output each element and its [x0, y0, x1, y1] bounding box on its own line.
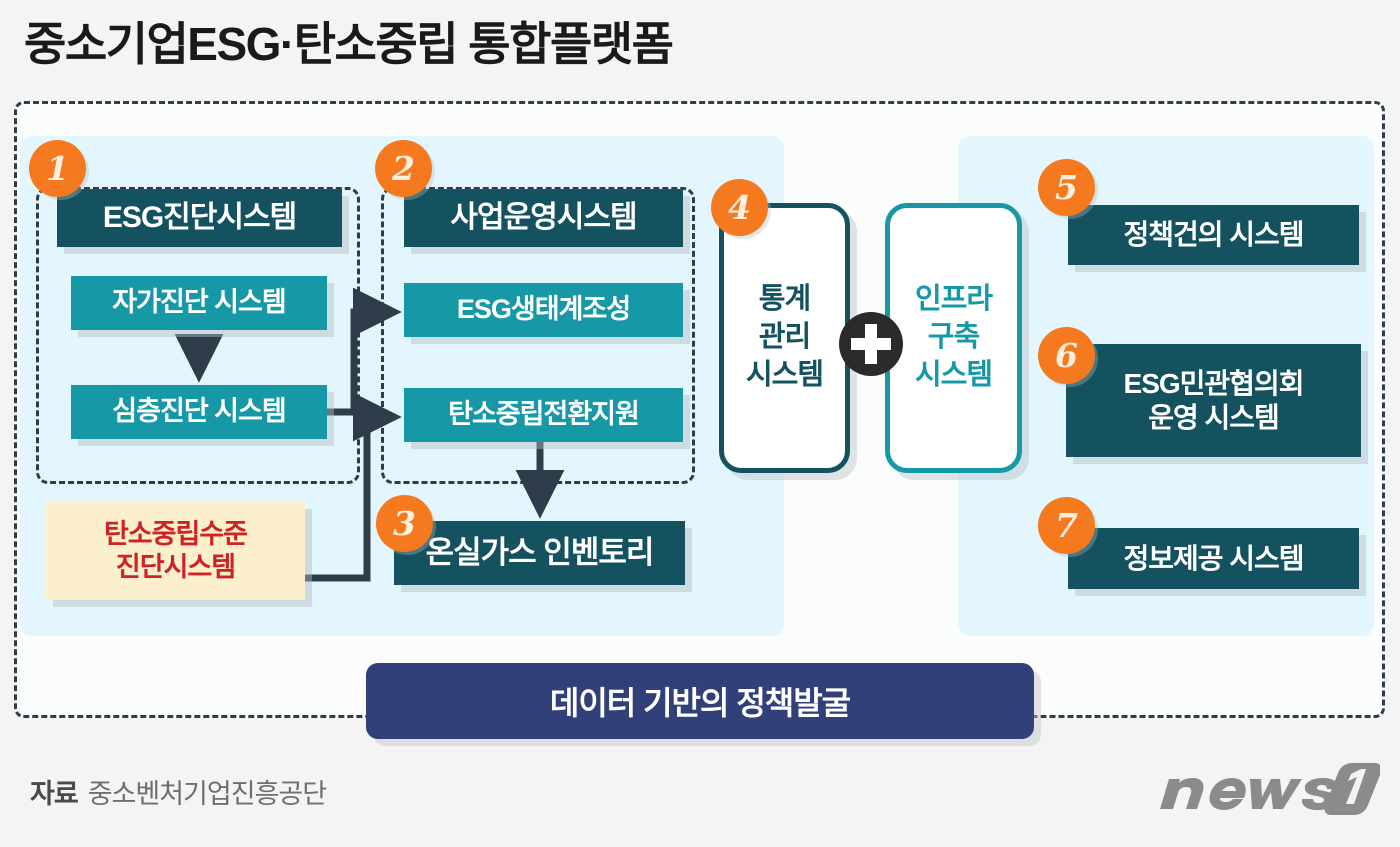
step-number-6: 6	[1038, 327, 1095, 384]
source-label: 자료	[30, 779, 78, 809]
source-credit: 자료중소벤처기업진흥공단	[30, 772, 326, 811]
step-number-4: 4	[711, 179, 768, 236]
source-value: 중소벤처기업진흥공단	[88, 779, 326, 809]
self-diagnosis-system-box[interactable]: 자가진단 시스템	[71, 276, 327, 330]
policy-proposal-system-box[interactable]: 정책건의 시스템	[1068, 205, 1359, 265]
infra-card-line3: 시스템	[915, 357, 992, 395]
esg-ecosystem-box[interactable]: ESG생태계조성	[404, 283, 683, 337]
business-operation-system-header[interactable]: 사업운영시스템	[404, 189, 683, 247]
carbon-neutral-transition-box[interactable]: 탄소중립전환지원	[404, 388, 683, 442]
council-line2: 운영 시스템	[1124, 401, 1304, 434]
stat-card-line1: 통계	[746, 281, 823, 319]
council-line1: ESG민관협의회	[1124, 367, 1304, 400]
infra-card-line2: 구축	[915, 319, 992, 357]
esg-diagnosis-system-header[interactable]: ESG진단시스템	[57, 189, 342, 247]
step-number-2: 2	[375, 140, 432, 197]
information-provision-system-box[interactable]: 정보제공 시스템	[1068, 528, 1359, 589]
carbon-neutral-level-diagnosis-box[interactable]: 탄소중립수준 진단시스템	[46, 502, 305, 600]
infrastructure-build-system-card[interactable]: 인프라 구축 시스템	[885, 203, 1022, 473]
page-title: 중소기업ESG·탄소중립 통합플랫폼	[24, 8, 672, 74]
news1-logo	[1152, 757, 1380, 819]
step-number-3: 3	[376, 495, 433, 552]
carbon-level-line2: 진단시스템	[104, 551, 247, 584]
data-driven-policy-banner[interactable]: 데이터 기반의 정책발굴	[366, 663, 1034, 739]
infographic-stage: 중소기업ESG·탄소중립 통합플랫폼 ESG진단시스템 자가진단 시스템 심층진…	[0, 0, 1400, 847]
esg-public-private-council-box[interactable]: ESG민관협의회 운영 시스템	[1066, 344, 1361, 457]
stat-card-line3: 시스템	[746, 357, 823, 395]
step-number-1: 1	[29, 140, 86, 197]
plus-icon	[839, 312, 903, 376]
step-number-5: 5	[1038, 159, 1095, 216]
statistics-management-system-card[interactable]: 통계 관리 시스템	[719, 203, 850, 473]
deep-diagnosis-system-box[interactable]: 심층진단 시스템	[71, 385, 327, 439]
greenhouse-gas-inventory-box[interactable]: 온실가스 인벤토리	[394, 521, 685, 585]
carbon-level-line1: 탄소중립수준	[104, 518, 247, 551]
step-number-7: 7	[1038, 497, 1095, 554]
stat-card-line2: 관리	[746, 319, 823, 357]
infra-card-line1: 인프라	[915, 281, 992, 319]
